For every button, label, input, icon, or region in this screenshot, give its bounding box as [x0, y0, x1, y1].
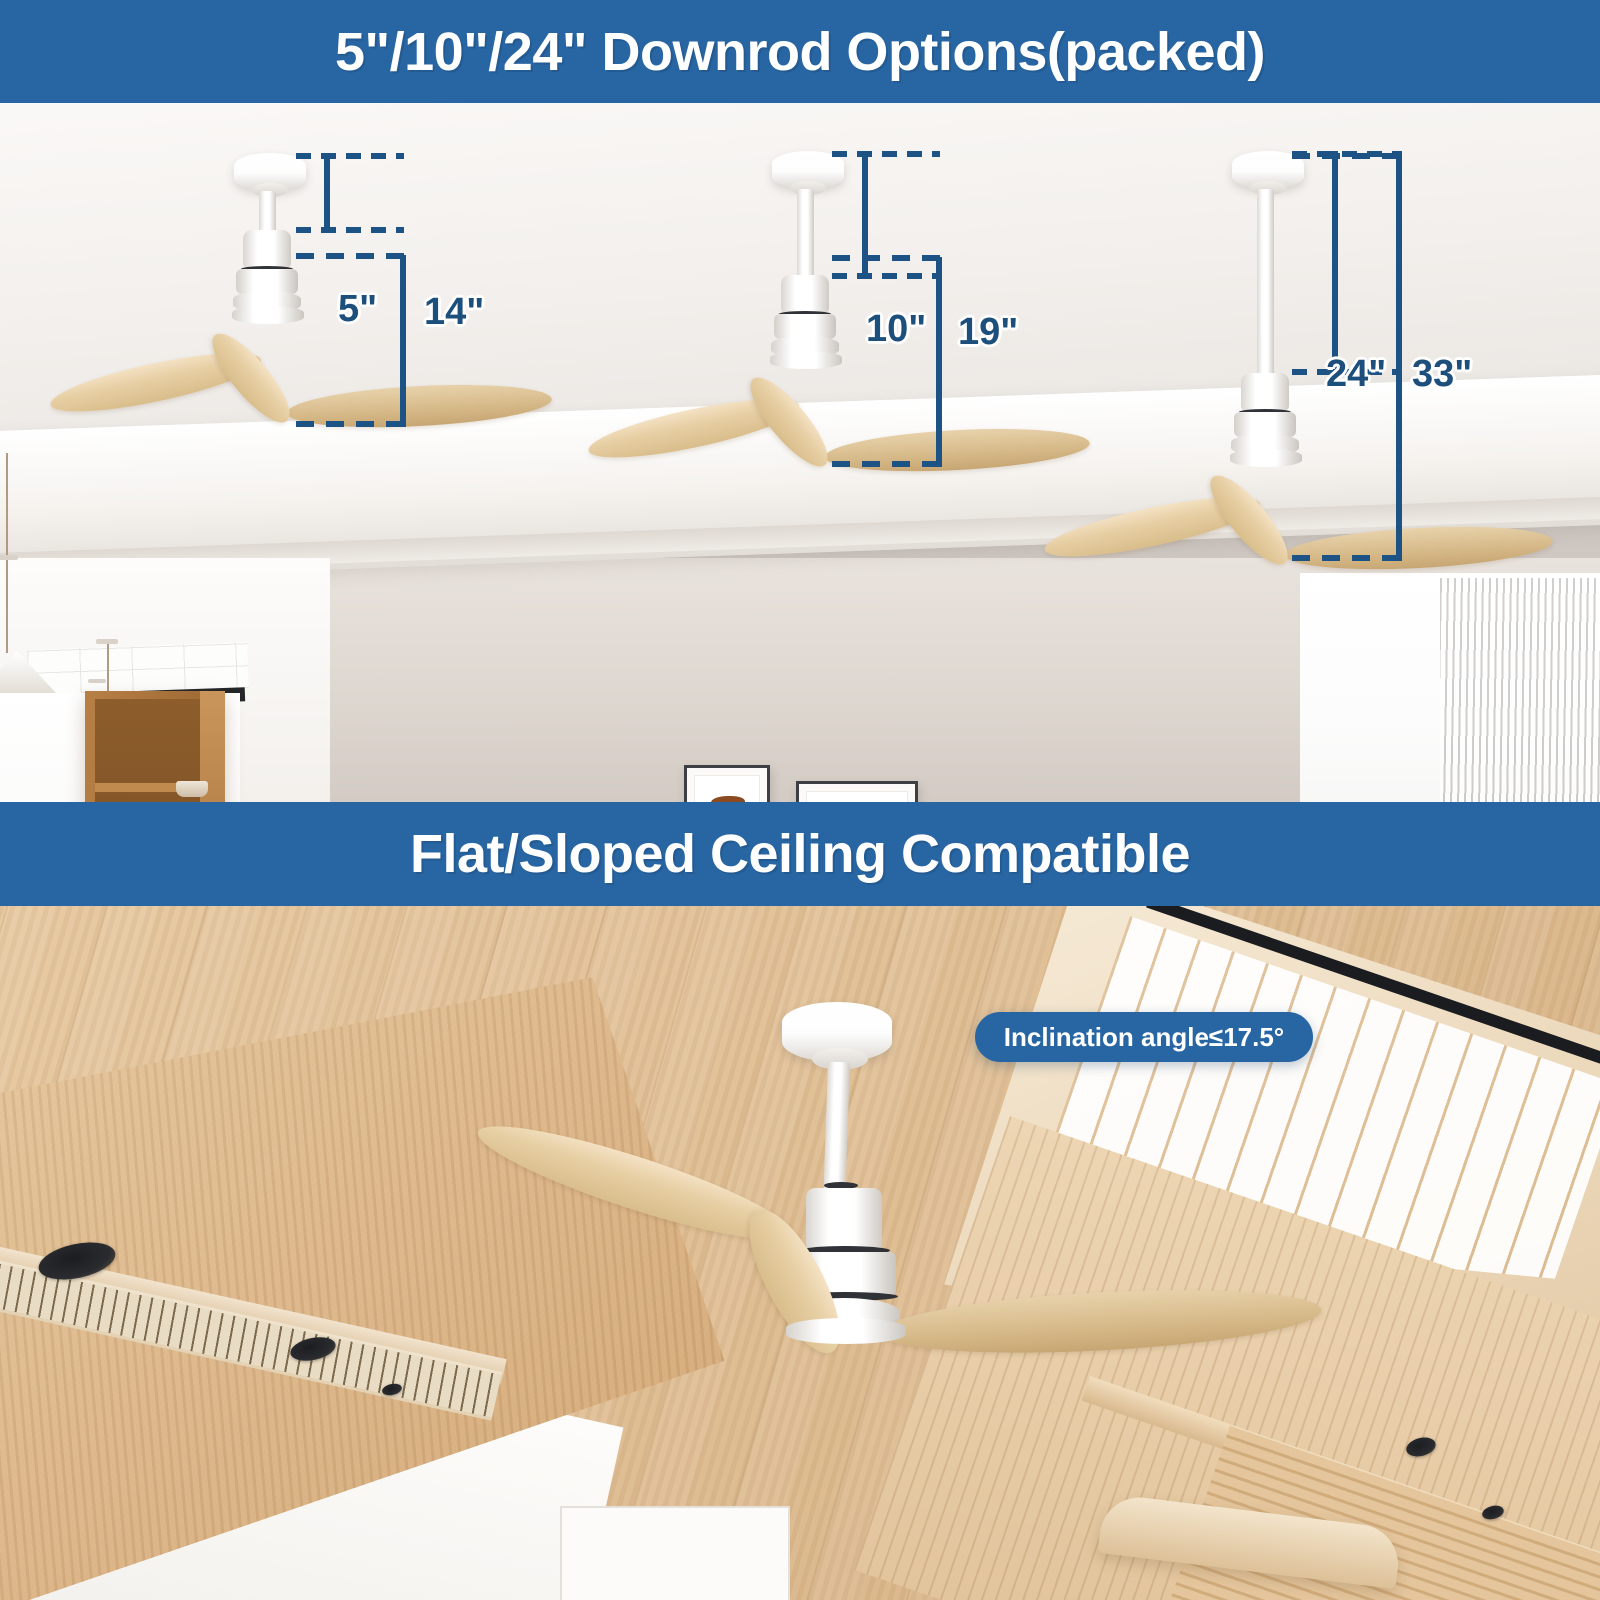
art-mat — [806, 791, 908, 802]
dim-10in-bottom-dash — [832, 273, 940, 279]
product-infographic: 5"/10"/24" Downrod Options(packed) — [0, 0, 1600, 1600]
dim-5in-bottom-dash — [296, 227, 404, 233]
pendant-mini-cap — [88, 679, 106, 683]
shelf-bowl — [176, 781, 208, 797]
dim-14in-bottom-dash — [296, 421, 404, 427]
fan-hub-plate — [1230, 449, 1302, 467]
inclination-angle-badge: Inclination angle≤17.5° — [975, 1012, 1313, 1062]
dim-5in-vline — [324, 153, 330, 233]
dim-10in-top-dash — [832, 151, 940, 157]
pendant-cord-1 — [6, 453, 8, 653]
fan-motor-top — [243, 230, 291, 268]
framed-art-3 — [796, 781, 918, 802]
dim-19in-vline — [936, 257, 942, 467]
fan-downrod — [1257, 189, 1274, 377]
dim-33in-bottom-dash — [1292, 555, 1402, 561]
framed-art-2 — [684, 765, 770, 802]
dim-33in-label: 33" — [1412, 353, 1472, 396]
fan-downrod — [824, 1062, 850, 1191]
fan-downrod — [797, 189, 814, 277]
downrod-options-title: 5"/10"/24" Downrod Options(packed) — [335, 21, 1265, 83]
dim-19in-label: 19" — [958, 311, 1018, 354]
window-curtain — [1440, 578, 1600, 802]
fan-motor-top — [806, 1188, 882, 1250]
fan-hub-plate — [232, 306, 304, 324]
dim-5in-top-dash — [296, 153, 404, 159]
downrod-options-banner: 5"/10"/24" Downrod Options(packed) — [0, 0, 1600, 103]
dim-33in-vline — [1396, 155, 1402, 561]
dim-14in-label: 14" — [424, 291, 484, 334]
fan-hub-plate — [786, 1318, 906, 1344]
pendant-cap-2 — [96, 639, 118, 644]
downrod-comparison-scene: 5" 14" 10" 19" — [0, 103, 1600, 802]
fan-hub-plate — [770, 351, 842, 369]
dim-19in-top-dash — [832, 255, 942, 261]
flat-sloped-title: Flat/Sloped Ceiling Compatible — [410, 823, 1190, 885]
dim-5in-label: 5" — [338, 288, 377, 331]
scene2-doorway — [560, 1506, 790, 1600]
fan-motor-top — [781, 275, 829, 313]
dim-14in-top-dash — [296, 253, 404, 259]
inclination-angle-text: Inclination angle≤17.5° — [1004, 1022, 1284, 1053]
fan-motor-top — [1241, 373, 1289, 411]
pendant-cap-1 — [0, 555, 18, 560]
flat-sloped-banner: Flat/Sloped Ceiling Compatible — [0, 802, 1600, 906]
dim-14in-vline — [400, 255, 406, 427]
dim-10in-label: 10" — [866, 308, 926, 351]
dim-24in-label: 24" — [1326, 353, 1386, 396]
dim-19in-bottom-dash — [832, 461, 942, 467]
dim-24in-vline — [1332, 151, 1338, 375]
dim-33in-top-dash — [1292, 153, 1402, 159]
sloped-ceiling-scene: Inclination angle≤17.5° — [0, 906, 1600, 1600]
fan-downrod — [259, 191, 276, 233]
